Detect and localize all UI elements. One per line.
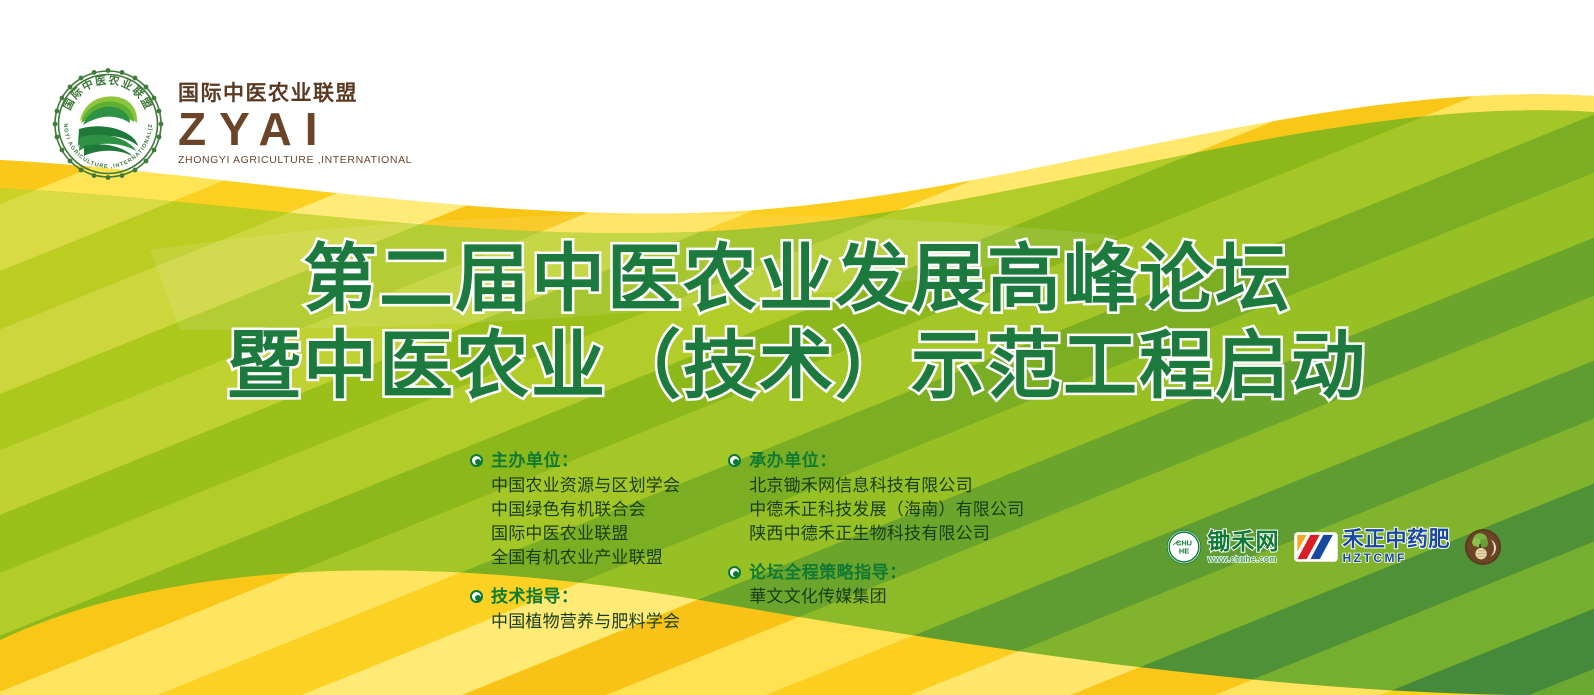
- tree-root-circle-icon: [1464, 528, 1502, 566]
- hztcmf-wordmark: 禾正中药肥 HZTCMF: [1343, 529, 1451, 565]
- hztcmf-acronym: HZTCMF: [1343, 551, 1451, 565]
- hztcmf-flag-icon: [1294, 532, 1338, 562]
- info-line: 国际中医农业联盟: [491, 522, 680, 546]
- hztcmf-name: 禾正中药肥: [1343, 529, 1451, 550]
- info-group-organizers: 主办单位： 中国农业资源与区划学会 中国绿色有机联合会 国际中医农业联盟 全国有…: [470, 448, 680, 570]
- event-banner: 国际中医农业联盟 ZHONGYI AGRICULTURE ,INTERNATIO…: [0, 0, 1594, 695]
- chuhe-name: 锄禾网: [1208, 530, 1280, 553]
- info-line: 中国绿色有机联合会: [491, 498, 680, 522]
- info-line: 華文文化传媒集团: [749, 585, 1024, 609]
- chuhe-circle-icon: CHU HE: [1166, 529, 1202, 565]
- info-line: 北京锄禾网信息科技有限公司: [749, 474, 1024, 498]
- chuhe-url: www.chuhe.com: [1208, 554, 1277, 565]
- zyai-circular-emblem: 国际中医农业联盟 ZHONGYI AGRICULTURE ,INTERNATIO…: [52, 68, 164, 180]
- info-column-right: 承办单位： 北京锄禾网信息科技有限公司 中德禾正科技发展（海南）有限公司 陕西中…: [728, 448, 1024, 634]
- info-heading-label: 技术指导：: [491, 584, 579, 610]
- info-line: 中德禾正科技发展（海南）有限公司: [749, 498, 1024, 522]
- info-heading: 技术指导：: [470, 584, 680, 610]
- logo-acronym: ZYAI: [178, 106, 412, 152]
- info-line: 中国农业资源与区划学会: [491, 474, 680, 498]
- bullet-icon: [470, 454, 483, 467]
- info-column-left: 主办单位： 中国农业资源与区划学会 中国绿色有机联合会 国际中医农业联盟 全国有…: [470, 448, 680, 634]
- logo-english-name: ZHONGYI AGRICULTURE ,INTERNATIONAL: [178, 154, 412, 166]
- info-group-strategy-guidance: 论坛全程策略指导： 華文文化传媒集团: [728, 560, 1024, 610]
- info-line: 全国有机农业产业联盟: [491, 546, 680, 570]
- sponsor-hztcmf: 禾正中药肥 HZTCMF: [1294, 529, 1451, 565]
- header-logo: 国际中医农业联盟 ZHONGYI AGRICULTURE ,INTERNATIO…: [52, 68, 412, 180]
- info-line: 陕西中德禾正生物科技有限公司: [749, 522, 1024, 546]
- sponsor-chuhe: CHU HE 锄禾网 www.chuhe.com: [1166, 529, 1280, 565]
- svg-text:HE: HE: [1178, 546, 1188, 555]
- logo-wordmark: 国际中医农业联盟 ZYAI ZHONGYI AGRICULTURE ,INTER…: [178, 82, 412, 165]
- info-heading: 论坛全程策略指导：: [728, 560, 1024, 586]
- info-group-co-organizers: 承办单位： 北京锄禾网信息科技有限公司 中德禾正科技发展（海南）有限公司 陕西中…: [728, 448, 1024, 546]
- organizer-info: 主办单位： 中国农业资源与区划学会 中国绿色有机联合会 国际中医农业联盟 全国有…: [470, 448, 1024, 634]
- sponsor-logos: CHU HE 锄禾网 www.chuhe.com 禾: [1166, 528, 1503, 566]
- info-heading: 承办单位：: [728, 448, 1024, 474]
- sponsor-tree-root: [1464, 528, 1502, 566]
- info-heading-label: 主办单位：: [491, 448, 579, 474]
- info-line: 中国植物营养与肥料学会: [491, 610, 680, 634]
- bullet-icon: [728, 454, 741, 467]
- info-heading-label: 论坛全程策略指导：: [749, 560, 907, 586]
- bullet-icon: [728, 566, 741, 579]
- info-heading: 主办单位：: [470, 448, 680, 474]
- info-group-technical-guidance: 技术指导： 中国植物营养与肥料学会: [470, 584, 680, 634]
- bullet-icon: [470, 590, 483, 603]
- info-heading-label: 承办单位：: [749, 448, 837, 474]
- chuhe-wordmark: 锄禾网 www.chuhe.com: [1208, 530, 1280, 565]
